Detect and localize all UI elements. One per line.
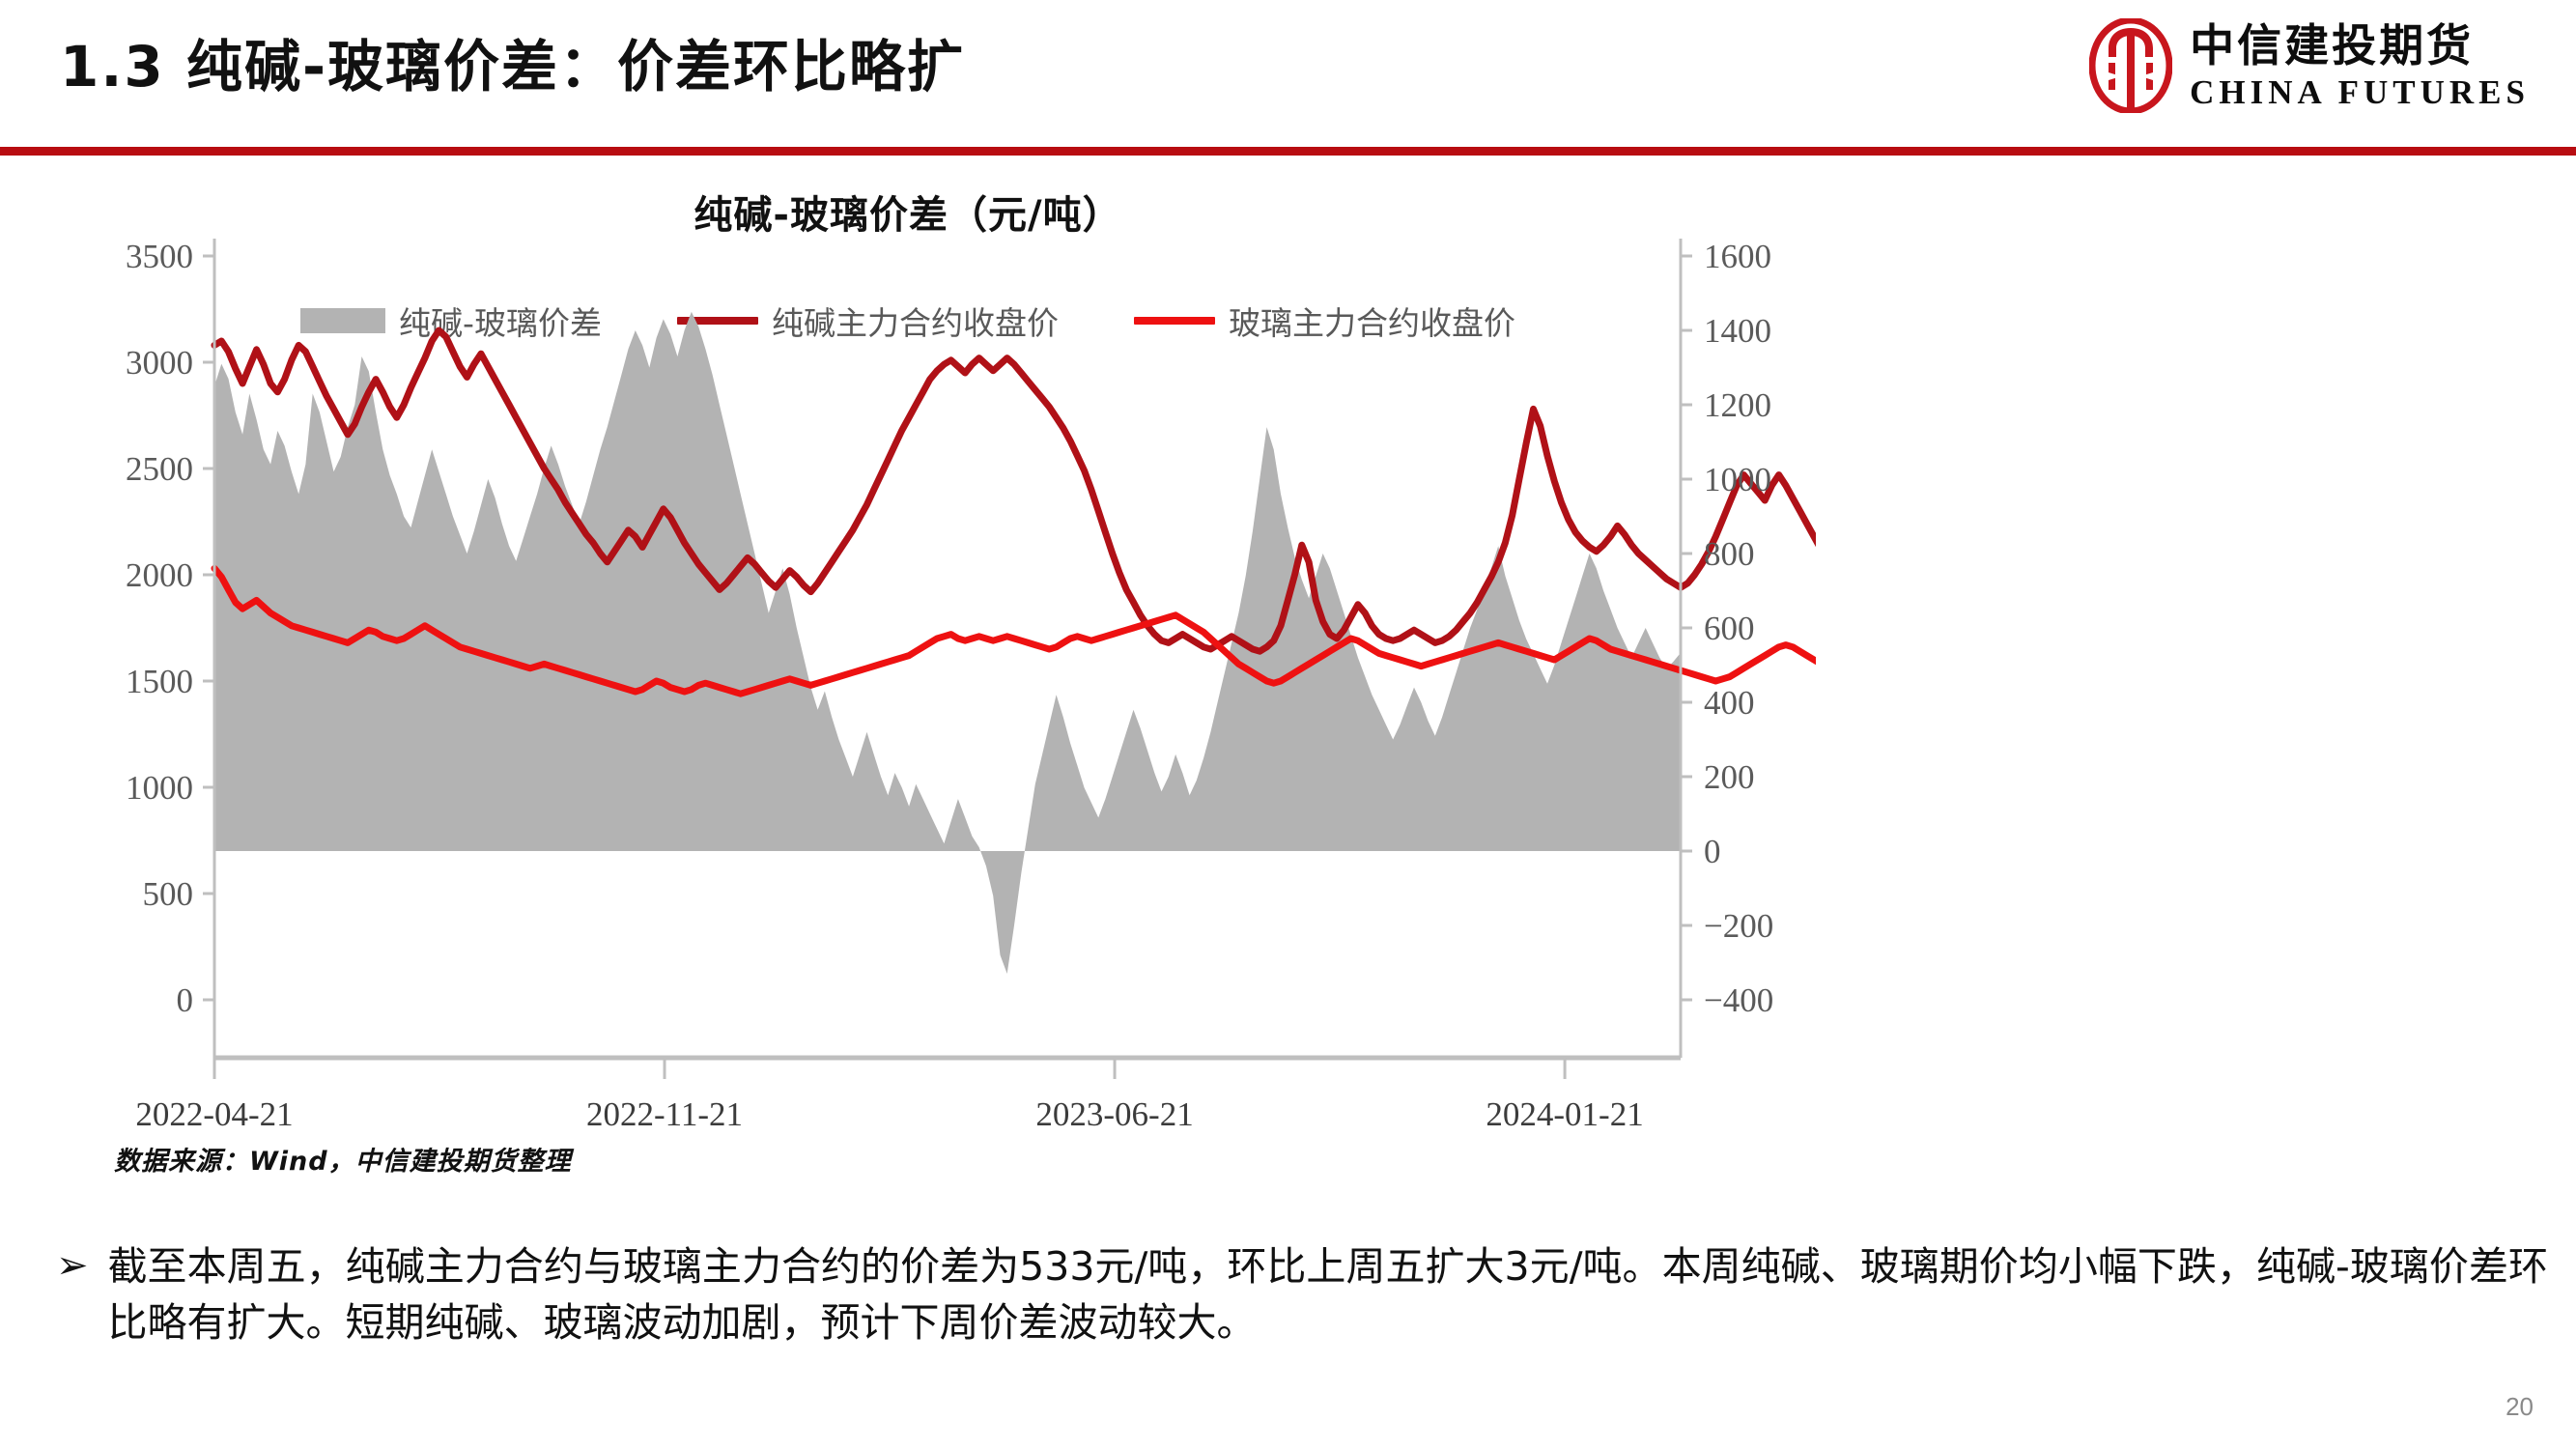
right-axis-tick-label: 400 xyxy=(1704,684,1755,722)
left-axis-tick-label: 2500 xyxy=(126,450,193,488)
left-axis-tick-label: 0 xyxy=(177,981,194,1019)
left-axis-tick-label: 500 xyxy=(143,875,194,913)
page-title: 1.3 纯碱-玻璃价差：价差环比略扩 xyxy=(60,21,965,102)
left-axis-tick-label: 1000 xyxy=(126,769,193,807)
slide-header: 1.3 纯碱-玻璃价差：价差环比略扩 中信建投期货 CHINA FUTURES xyxy=(0,0,2576,155)
right-axis-tick-label: 1000 xyxy=(1704,461,1771,498)
logo-wordmark: 中信建投期货 CHINA FUTURES xyxy=(2190,23,2530,109)
x-axis-tick-label: 2023-06-21 xyxy=(1035,1095,1193,1133)
x-axis-tick-label: 2024-01-21 xyxy=(1486,1095,1643,1133)
x-axis-tick-label: 2022-11-21 xyxy=(586,1095,743,1133)
x-axis-tick-label: 2022-04-21 xyxy=(135,1095,293,1133)
page-number: 20 xyxy=(2505,1392,2534,1422)
logo-chinese-name: 中信建投期货 xyxy=(2190,23,2530,68)
citic-emblem-icon xyxy=(2089,18,2172,113)
bullet-arrow-icon: ➢ xyxy=(56,1238,89,1350)
plot-area: 0500100015002000250030003500−400−2000200… xyxy=(0,184,1816,1150)
right-axis-tick-label: 600 xyxy=(1704,610,1755,647)
left-axis-tick-label: 3000 xyxy=(126,344,193,382)
left-axis-tick-label: 1500 xyxy=(126,663,193,700)
right-axis-tick-label: 800 xyxy=(1704,535,1755,573)
right-axis-tick-label: 200 xyxy=(1704,758,1755,796)
header-divider xyxy=(0,147,2576,156)
source-note: 数据来源：Wind，中信建投期货整理 xyxy=(114,1140,572,1178)
bullet-text: 截至本周五，纯碱主力合约与玻璃主力合约的价差为533元/吨，环比上周五扩大3元/… xyxy=(108,1238,2548,1350)
right-axis-tick-label: 1400 xyxy=(1704,312,1771,350)
right-axis-tick-label: 0 xyxy=(1704,833,1721,870)
right-axis-tick-label: −200 xyxy=(1704,907,1773,945)
chart-container: 纯碱-玻璃价差（元/吨） 纯碱-玻璃价差 纯碱主力合约收盘价 玻璃主力合约收盘价… xyxy=(0,184,1816,1150)
right-axis-tick-label: −400 xyxy=(1704,981,1773,1019)
company-logo: 中信建投期货 CHINA FUTURES xyxy=(2089,14,2530,118)
chart-svg: 0500100015002000250030003500−400−2000200… xyxy=(0,184,1816,1150)
logo-english-name: CHINA FUTURES xyxy=(2190,75,2530,109)
summary-bullet: ➢ 截至本周五，纯碱主力合约与玻璃主力合约的价差为533元/吨，环比上周五扩大3… xyxy=(56,1238,2548,1350)
right-axis-tick-label: 1600 xyxy=(1704,238,1771,275)
series-area-spread xyxy=(214,312,1681,974)
left-axis-tick-label: 3500 xyxy=(126,238,193,275)
left-axis-tick-label: 2000 xyxy=(126,556,193,594)
right-axis-tick-label: 1200 xyxy=(1704,386,1771,424)
